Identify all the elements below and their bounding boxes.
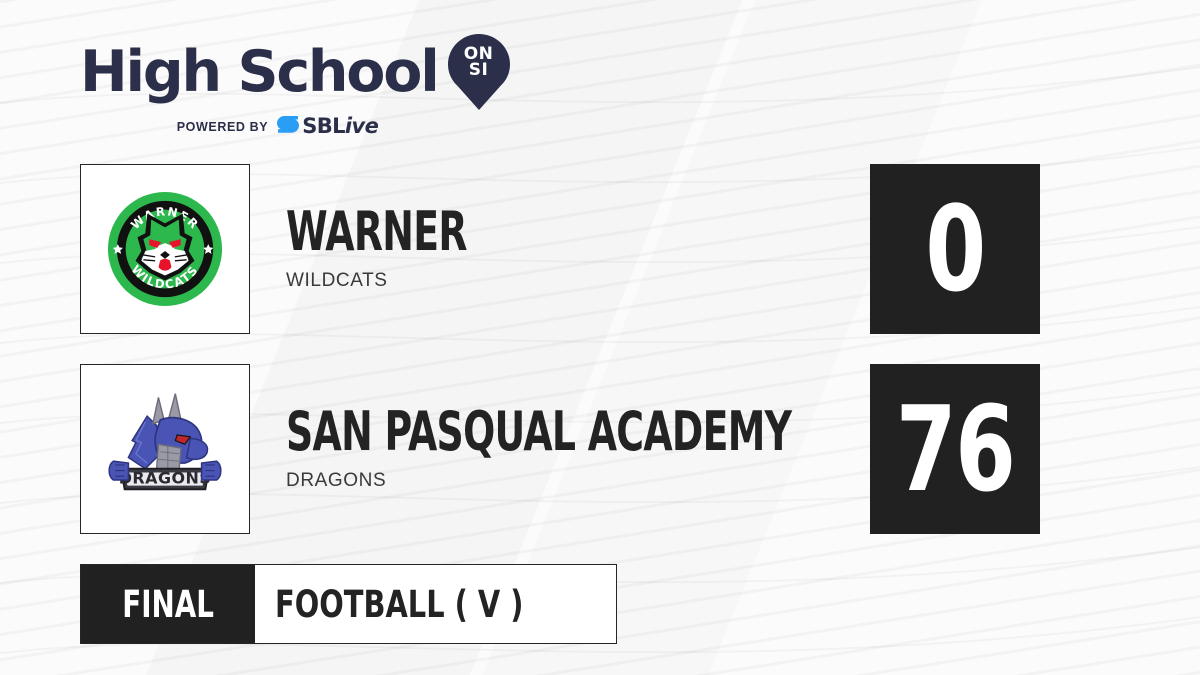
sport-label-container: FOOTBALL ( V )	[255, 565, 616, 643]
game-state-label: FINAL	[122, 583, 214, 626]
sblive-italic-part: ive	[345, 114, 378, 138]
sblive-wordmark: SBLive	[302, 116, 378, 137]
powered-by-lockup: POWERED BY SBLive	[80, 116, 475, 137]
team-name: WARNER	[286, 206, 870, 257]
team-score: 76	[896, 390, 1015, 508]
powered-by-label: POWERED BY	[177, 120, 268, 134]
team-score-box: 0	[870, 164, 1040, 334]
sport-label: FOOTBALL ( V )	[275, 583, 523, 626]
scoreboard-graphic: High School ON SI POWERED BY SBLive	[0, 0, 1200, 675]
svg-text:DRAGONS: DRAGONS	[119, 469, 212, 488]
game-status-bar: FINAL FOOTBALL ( V )	[80, 564, 617, 644]
team-name: SAN PASQUAL ACADEMY	[286, 406, 870, 457]
team-logo-box: DRAGONS	[80, 364, 250, 534]
on-si-pin-icon: ON SI	[448, 34, 510, 110]
sblive-bold-part: SBL	[302, 114, 345, 138]
pin-line-si: SI	[448, 62, 510, 78]
on-si-pin-text: ON SI	[448, 46, 510, 78]
team-score-box: 76	[870, 364, 1040, 534]
warner-wildcats-logo-icon: WARNER WILDCATS	[106, 190, 224, 308]
brand-header: High School ON SI POWERED BY SBLive	[80, 34, 510, 137]
brand-lockup: High School ON SI	[80, 34, 510, 110]
team-score: 0	[925, 190, 984, 308]
san-pasqual-dragons-logo-icon: DRAGONS	[104, 388, 226, 510]
team-logo-box: WARNER WILDCATS	[80, 164, 250, 334]
brand-title: High School	[80, 44, 438, 101]
sblive-bolt-icon	[277, 116, 299, 137]
sblive-logo: SBLive	[277, 116, 378, 137]
game-state-badge: FINAL	[81, 565, 255, 643]
